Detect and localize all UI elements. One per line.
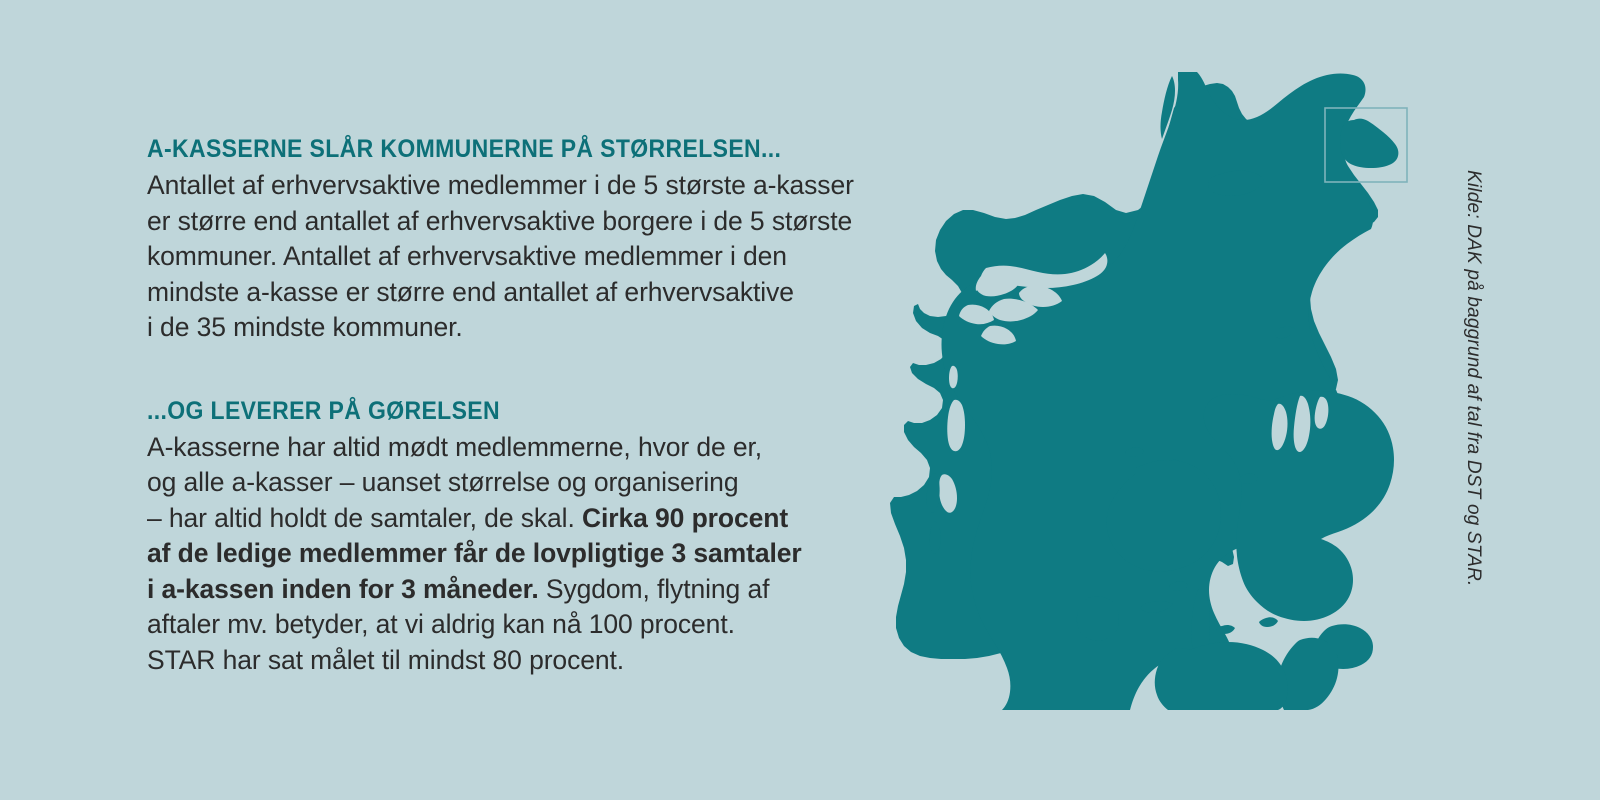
block-1-line-3: kommuner. Antallet af erhvervsaktive med… <box>147 239 907 275</box>
block-1-line-5: i de 35 mindste kommuner. <box>147 310 907 346</box>
block-2-line-4: af de ledige medlemmer får de lovpligtig… <box>147 536 907 572</box>
block-2-bold-phrase-3: i a-kassen inden for 3 måneder. <box>147 574 539 604</box>
block-2-line-3-plain: – har altid holdt de samtaler, de skal. <box>147 503 582 533</box>
denmark-shapes <box>927 72 1394 710</box>
bornholm-island <box>1340 119 1398 168</box>
block-2-body: A-kasserne har altid mødt medlemmerne, h… <box>147 430 907 679</box>
map-of-denmark <box>880 70 1460 710</box>
block-2-line-5: i a-kassen inden for 3 måneder. Sygdom, … <box>147 572 907 608</box>
text-column: A-KASSERNE SLÅR KOMMUNERNE PÅ STØRRELSEN… <box>147 132 907 678</box>
block-1-body: Antallet af erhvervsaktive medlemmer i d… <box>147 168 907 346</box>
small-island-b <box>1259 617 1278 627</box>
infographic-canvas: A-KASSERNE SLÅR KOMMUNERNE PÅ STØRRELSEN… <box>0 0 1600 800</box>
block-1-line-4: mindste a-kasse er større end antallet a… <box>147 275 907 311</box>
source-credit: Kilde: DAK på baggrund af tal fra DST og… <box>1462 170 1484 587</box>
block-2-line-1: A-kasserne har altid mødt medlemmerne, h… <box>147 430 907 466</box>
block-1-line-1: Antallet af erhvervsaktive medlemmer i d… <box>147 168 907 204</box>
block-2-bold-phrase-1: Cirka 90 procent <box>582 503 788 533</box>
block-2-line-7: STAR har sat målet til mindst 80 procent… <box>147 643 907 679</box>
lolland-island <box>1155 642 1288 710</box>
block-2-line-3: – har altid holdt de samtaler, de skal. … <box>147 501 907 537</box>
block-2-line-6: aftaler mv. betyder, at vi aldrig kan nå… <box>147 607 907 643</box>
als-island <box>1077 596 1119 640</box>
block-2-bold-phrase-2: af de ledige medlemmer får de lovpligtig… <box>147 538 802 568</box>
falster-island <box>1278 638 1339 710</box>
text-block-1: A-KASSERNE SLÅR KOMMUNERNE PÅ STØRRELSEN… <box>147 132 907 346</box>
block-2-heading: ...OG LEVERER PÅ GØRELSEN <box>147 394 846 428</box>
block-2-line-2: og alle a-kasser – uanset størrelse og o… <box>147 465 907 501</box>
block-2-line-5-tail: Sygdom, flytning af <box>539 574 770 604</box>
text-block-2: ...OG LEVERER PÅ GØRELSEN A-kasserne har… <box>147 394 907 679</box>
denmark-map-svg <box>880 70 1460 710</box>
block-1-line-2: er større end antallet af erhvervsaktive… <box>147 204 907 240</box>
block-1-heading: A-KASSERNE SLÅR KOMMUNERNE PÅ STØRRELSEN… <box>147 132 846 166</box>
